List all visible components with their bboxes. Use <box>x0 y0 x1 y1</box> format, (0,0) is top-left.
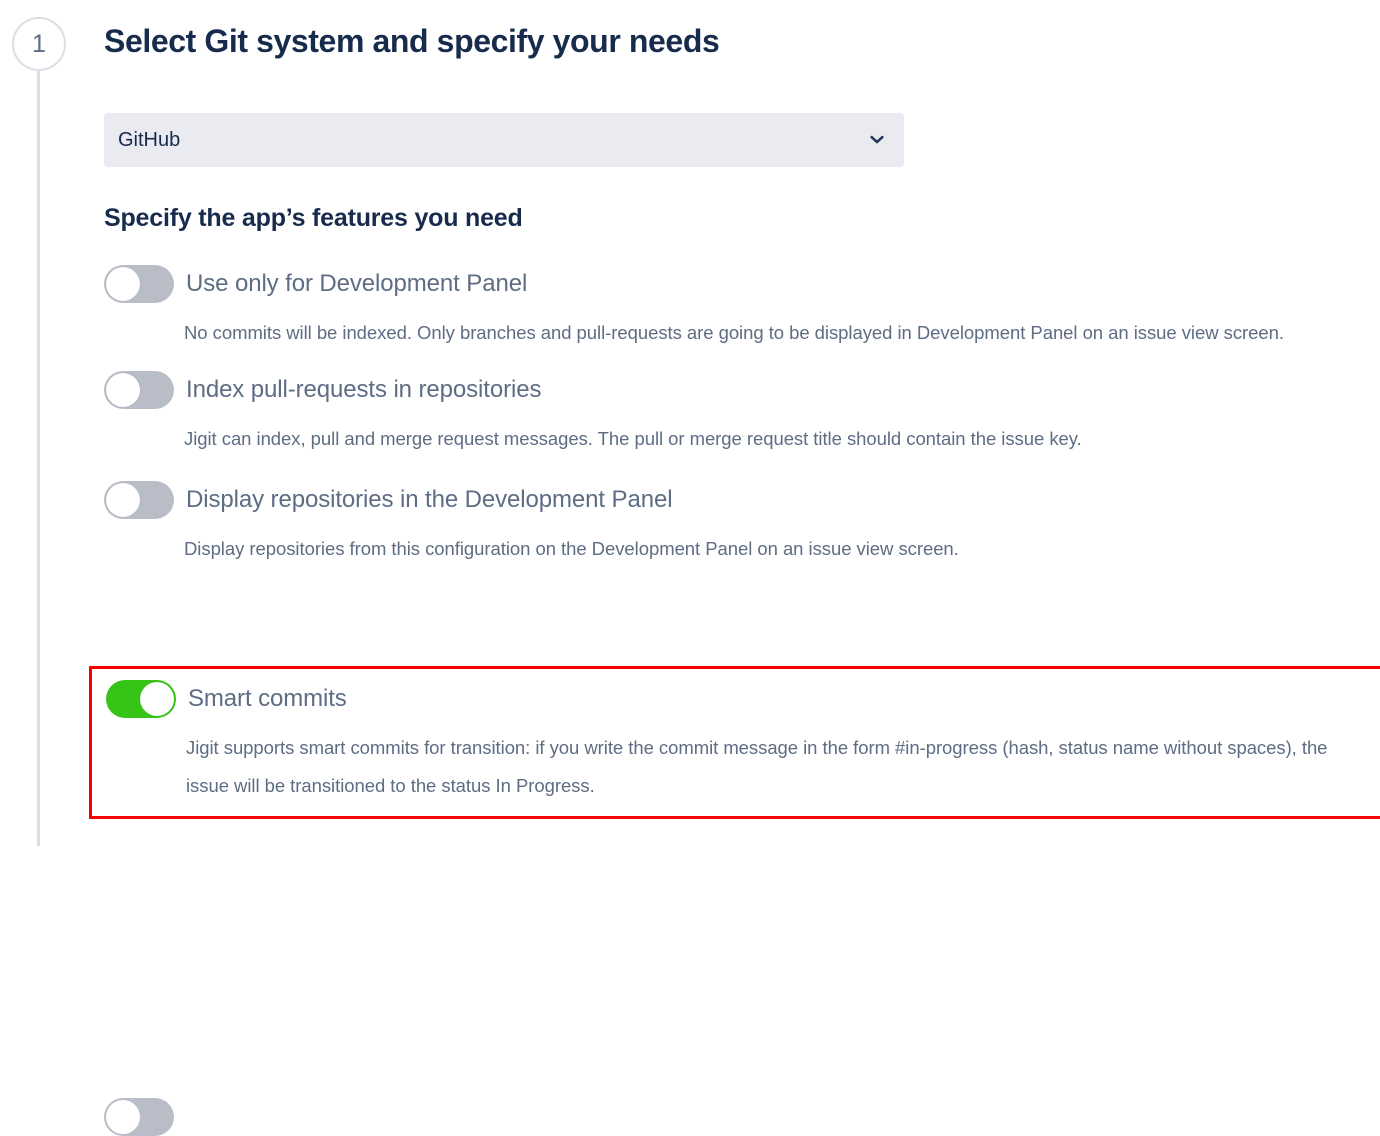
chevron-down-icon <box>866 129 888 151</box>
feature-description-smart-commits: Jigit supports smart commits for transit… <box>186 729 1346 805</box>
toggle-knob <box>106 483 140 517</box>
step-number-label: 1 <box>32 30 46 59</box>
feature-description-display-repositories: Display repositories from this configura… <box>184 530 1369 568</box>
toggle-knob <box>106 267 140 301</box>
toggle-display-repositories[interactable] <box>104 481 174 519</box>
features-subtitle: Specify the app’s features you need <box>104 201 523 235</box>
feature-description-pull-requests: Jigit can index, pull and merge request … <box>184 420 1369 458</box>
feature-description-dev-panel: No commits will be indexed. Only branche… <box>184 314 1369 352</box>
toggle-use-only-for-development-panel[interactable] <box>104 265 174 303</box>
toggle-knob <box>140 682 174 716</box>
step-content: Select Git system and specify your needs… <box>104 0 1380 846</box>
toggle-next-feature-partial[interactable] <box>104 1098 174 1136</box>
feature-list: Use only for Development Panel No commit… <box>104 262 1380 580</box>
feature-label-smart-commits: Smart commits <box>188 684 347 714</box>
toggle-index-pull-requests[interactable] <box>104 371 174 409</box>
git-system-select-value: GitHub <box>118 128 866 152</box>
feature-label-display-repositories: Display repositories in the Development … <box>186 485 672 515</box>
page-title: Select Git system and specify your needs <box>104 19 719 63</box>
feature-head: Index pull-requests in repositories <box>104 368 1380 412</box>
feature-label-pull-requests: Index pull-requests in repositories <box>186 375 541 405</box>
step-number-badge: 1 <box>12 17 66 71</box>
step-rail: 1 <box>12 17 68 846</box>
feature-head: Display repositories in the Development … <box>104 478 1380 522</box>
feature-row-smart-commits-highlighted: Smart commits Jigit supports smart commi… <box>89 666 1380 819</box>
git-system-select[interactable]: GitHub <box>104 113 904 167</box>
feature-head: Use only for Development Panel <box>104 262 1380 306</box>
toggle-smart-commits[interactable] <box>106 680 176 718</box>
feature-head: Smart commits <box>106 677 1380 721</box>
feature-row-pull-requests: Index pull-requests in repositories Jigi… <box>104 368 1380 458</box>
feature-row-display-repositories: Display repositories in the Development … <box>104 478 1380 568</box>
step-connector-line <box>37 71 40 846</box>
feature-row-dev-panel: Use only for Development Panel No commit… <box>104 262 1380 352</box>
toggle-knob <box>106 1100 140 1134</box>
feature-label-dev-panel: Use only for Development Panel <box>186 269 527 299</box>
toggle-knob <box>106 373 140 407</box>
